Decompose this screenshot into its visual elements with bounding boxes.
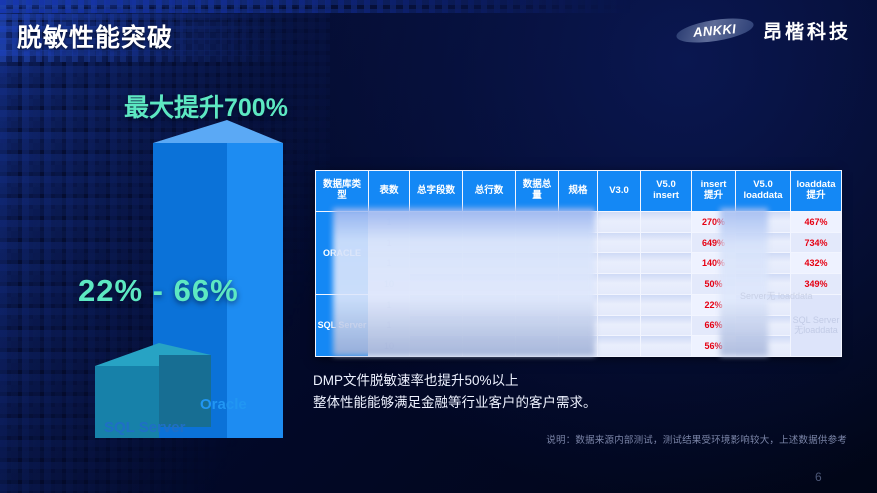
cell-v30 (598, 212, 640, 232)
cell-data-volume (516, 295, 558, 315)
table-body: ORACLE 1 270% 467% 1 (316, 212, 841, 356)
cell-total-rows (463, 253, 515, 273)
cell-total-fields (410, 316, 462, 336)
table-row[interactable]: 10 50% 349% (316, 274, 841, 294)
cell-spec (559, 274, 597, 294)
cell-v50-loaddata (736, 274, 790, 294)
cell-insert-gain: 649% (692, 233, 735, 253)
bar-label-oracle: Oracle (200, 396, 247, 413)
cell-insert-gain: 66% (692, 316, 735, 336)
cell-v50-loaddata (736, 212, 790, 232)
cell-table-count: 1 (369, 253, 409, 273)
bar-sqlserver-right-face (159, 355, 211, 427)
table-row[interactable]: 1 140% 432% (316, 253, 841, 273)
bar-chart: 最大提升700% 22% - 66% Oracle SQL Server (0, 78, 310, 438)
cell-spec (559, 212, 597, 232)
cell-loaddata-gain: 432% (791, 253, 841, 273)
col-header-db-type[interactable]: 数据库类 型 (316, 171, 368, 211)
cell-spec (559, 233, 597, 253)
cell-data-volume (516, 316, 558, 336)
body-copy: DMP文件脱敏速率也提升50%以上 整体性能能够满足金融等行业客户的客户需求。 (313, 370, 873, 414)
table-row[interactable]: 1 66% (316, 316, 841, 336)
cell-total-fields (410, 253, 462, 273)
cell-v50-insert (641, 253, 691, 273)
cell-loaddata-gain: 734% (791, 233, 841, 253)
bar-label-sqlserver: SQL Server (104, 419, 185, 436)
cell-insert-gain: 56% (692, 336, 735, 356)
body-copy-line-1: DMP文件脱敏速率也提升50%以上 (313, 370, 873, 392)
cell-data-volume (516, 233, 558, 253)
cell-v50-insert (641, 295, 691, 315)
cell-v50-loaddata (736, 316, 790, 336)
cell-v50-loaddata (736, 253, 790, 273)
cell-v50-insert (641, 212, 691, 232)
cell-table-count: 10 (369, 274, 409, 294)
cell-table-count: 1 (369, 295, 409, 315)
body-copy-line-2: 整体性能能够满足金融等行业客户的客户需求。 (313, 392, 873, 414)
cell-total-rows (463, 295, 515, 315)
col-header-v30[interactable]: V3.0 (598, 171, 640, 211)
cell-total-rows (463, 316, 515, 336)
cell-insert-gain: 22% (692, 295, 735, 315)
cell-data-volume (516, 274, 558, 294)
cell-v30 (598, 274, 640, 294)
cell-total-rows (463, 212, 515, 232)
col-header-v50-insert[interactable]: V5.0 insert (641, 171, 691, 211)
disclaimer-text: 说明：数据来源内部测试，测试结果受环境影响较大，上述数据供参考 (546, 432, 847, 446)
slide-canvas: 脱敏性能突破 ANKKI 昂楷科技 最大提升700% 22% - 66% (0, 0, 877, 493)
page-title: 脱敏性能突破 (17, 18, 173, 54)
cell-total-rows (463, 233, 515, 253)
chart-annotation-sqlserver: 22% - 66% (78, 273, 239, 309)
cell-data-volume (516, 336, 558, 356)
cell-table-count: 10 (369, 336, 409, 356)
cell-v50-insert (641, 233, 691, 253)
cell-spec (559, 295, 597, 315)
page-number: 6 (815, 470, 822, 484)
cell-total-fields (410, 295, 462, 315)
cell-v30 (598, 295, 640, 315)
cell-v50-loaddata (736, 295, 790, 315)
cell-insert-gain: 140% (692, 253, 735, 273)
cell-total-fields (410, 212, 462, 232)
ankki-ellipse-logo-icon: ANKKI (676, 19, 754, 42)
cell-table-count: 1 (369, 316, 409, 336)
table-row[interactable]: 10 56% (316, 336, 841, 356)
cell-v30 (598, 316, 640, 336)
cell-v50-loaddata (736, 336, 790, 356)
cell-v50-loaddata (736, 233, 790, 253)
col-header-insert-gain[interactable]: insert 提升 (692, 171, 735, 211)
cell-insert-gain: 270% (692, 212, 735, 232)
cell-data-volume (516, 253, 558, 273)
cell-loaddata-gain: 349% (791, 274, 841, 294)
cell-v30 (598, 253, 640, 273)
cell-loaddata-gain: 467% (791, 212, 841, 232)
col-header-data-volume[interactable]: 数据总 量 (516, 171, 558, 211)
cell-loaddata-note: SQL Server无loaddata (791, 295, 841, 356)
table-row[interactable]: 1 649% 734% (316, 233, 841, 253)
col-header-v50-loaddata[interactable]: V5.0 loaddata (736, 171, 790, 211)
col-header-total-fields[interactable]: 总字段数 (410, 171, 462, 211)
cell-spec (559, 316, 597, 336)
cell-total-fields (410, 274, 462, 294)
table-row[interactable]: SQL Server 1 22% SQL Server无loaddata (316, 295, 841, 315)
cell-total-fields (410, 233, 462, 253)
cell-db-sqlserver: SQL Server (316, 295, 368, 356)
col-header-total-rows[interactable]: 总行数 (463, 171, 515, 211)
cell-total-fields (410, 336, 462, 356)
performance-table: 数据库类 型 表数 总字段数 总行数 数据总 量 (315, 170, 842, 357)
col-header-loaddata-gain[interactable]: loaddata 提升 (791, 171, 841, 211)
cell-v30 (598, 336, 640, 356)
cell-spec (559, 336, 597, 356)
col-header-table-count[interactable]: 表数 (369, 171, 409, 211)
cell-insert-gain: 50% (692, 274, 735, 294)
cell-v30 (598, 233, 640, 253)
cell-spec (559, 253, 597, 273)
table-header-row: 数据库类 型 表数 总字段数 总行数 数据总 量 (316, 171, 841, 211)
cell-table-count: 1 (369, 212, 409, 232)
cell-total-rows (463, 274, 515, 294)
cell-db-oracle: ORACLE (316, 212, 368, 294)
cell-v50-insert (641, 316, 691, 336)
cell-table-count: 1 (369, 233, 409, 253)
cell-total-rows (463, 336, 515, 356)
table-row[interactable]: ORACLE 1 270% 467% (316, 212, 841, 232)
cell-v50-insert (641, 336, 691, 356)
cell-v50-insert (641, 274, 691, 294)
cell-data-volume (516, 212, 558, 232)
performance-table-container: 数据库类 型 表数 总字段数 总行数 数据总 量 (315, 170, 838, 357)
col-header-spec[interactable]: 规格 (559, 171, 597, 211)
logo-chinese-name: 昂楷科技 (763, 17, 851, 44)
brand-logo: ANKKI 昂楷科技 (676, 17, 851, 44)
chart-annotation-oracle: 最大提升700% (124, 88, 288, 124)
mosaic-background-top-strip (0, 0, 877, 13)
